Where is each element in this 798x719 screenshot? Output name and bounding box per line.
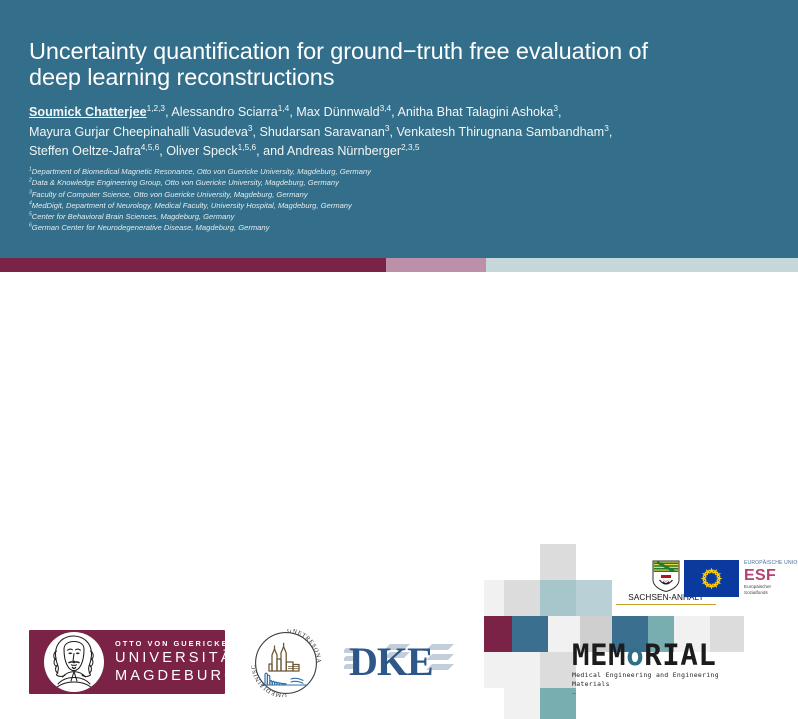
accent-bar-segment-2 bbox=[386, 258, 486, 272]
svg-text:DKE: DKE bbox=[349, 639, 433, 682]
memorial-subtitle: Medical Engineering and Engineering Mate… bbox=[572, 671, 757, 689]
memorial-logo: SACHSEN-ANHALT bbox=[484, 544, 774, 719]
memorial-wordmark: MEMoRIAL Medical Engineering and Enginee… bbox=[572, 640, 757, 698]
logo-band: OTTO VON GUERICKE UNIVERSITÄT MAGDEBURG … bbox=[0, 272, 798, 474]
memorial-word-part2: RIAL bbox=[644, 638, 716, 672]
memorial-word-o: o bbox=[626, 638, 644, 672]
esf-eu-logo: EUROPÄISCHE UNION ESF Europäischer Sozia… bbox=[684, 560, 776, 604]
affiliation-item: 3Faculty of Computer Science, Otto von G… bbox=[29, 189, 774, 200]
affiliation-item: 2Data & Knowledge Engineering Group, Ott… bbox=[29, 177, 774, 188]
ovgu-logo-line2: UNIVERSITÄT bbox=[115, 649, 246, 667]
mosaic-square bbox=[484, 616, 512, 652]
ovgu-logo-text: OTTO VON GUERICKE UNIVERSITÄT MAGDEBURG bbox=[115, 639, 246, 685]
title-header-panel: Uncertainty quantification for ground−tr… bbox=[0, 0, 798, 258]
accent-bar-segment-1 bbox=[0, 258, 386, 272]
memorial-word: MEMoRIAL bbox=[572, 640, 757, 670]
affiliation-item: 1Department of Biomedical Magnetic Reson… bbox=[29, 166, 774, 177]
memorial-word-part1: MEM bbox=[572, 638, 626, 672]
esf-line-sozialfonds: Sozialfonds bbox=[744, 590, 789, 596]
mosaic-square bbox=[484, 580, 504, 616]
author-list: Soumick Chatterjee1,2,3, Alessandro Scia… bbox=[29, 103, 774, 162]
affiliation-item: 6German Center for Neurodegenerative Dis… bbox=[29, 222, 774, 233]
mosaic-square bbox=[576, 580, 612, 616]
mosaic-square bbox=[540, 544, 576, 580]
mosaic-square bbox=[504, 688, 540, 719]
accent-color-bar bbox=[0, 258, 798, 272]
esf-line-europaeische-union: EUROPÄISCHE UNION bbox=[744, 560, 789, 567]
ovgu-logo-line3: MAGDEBURG bbox=[115, 667, 246, 685]
affiliation-list: 1Department of Biomedical Magnetic Reson… bbox=[29, 166, 774, 234]
page-title: Uncertainty quantification for ground−tr… bbox=[29, 38, 759, 90]
otto-von-guericke-universitaet-magdeburg-logo: OTTO VON GUERICKE UNIVERSITÄT MAGDEBURG bbox=[29, 630, 225, 694]
mosaic-square bbox=[504, 580, 540, 616]
mosaic-square bbox=[540, 688, 576, 719]
esf-acronym: ESF bbox=[744, 567, 789, 584]
dke-logo: DKE bbox=[344, 638, 458, 682]
sachsen-anhalt-coat-of-arms-icon bbox=[652, 560, 680, 592]
affiliation-item: 4MedDigit, Department of Neurology, Medi… bbox=[29, 200, 774, 211]
memorial-subtitle-dash: – bbox=[572, 689, 757, 698]
mosaic-square bbox=[504, 652, 540, 688]
biomedizinische-magnetresonanz-logo: BIOMEDIZINISCHE MAGNETRESONANZ bbox=[247, 629, 325, 697]
mosaic-square bbox=[540, 580, 576, 616]
accent-bar-segment-3 bbox=[486, 258, 798, 272]
mosaic-square bbox=[540, 652, 576, 688]
affiliation-item: 5Center for Behavioral Brain Sciences, M… bbox=[29, 211, 774, 222]
otto-von-guericke-portrait-icon bbox=[44, 632, 104, 692]
ovgu-logo-line1: OTTO VON GUERICKE bbox=[115, 639, 246, 649]
mosaic-square bbox=[484, 652, 504, 688]
esf-text-block: EUROPÄISCHE UNION ESF Europäischer Sozia… bbox=[744, 560, 789, 596]
presentation-title-slide: Uncertainty quantification for ground−tr… bbox=[0, 0, 798, 474]
mosaic-square bbox=[512, 616, 548, 652]
european-union-flag-icon bbox=[684, 560, 739, 597]
sachsen-anhalt-rule bbox=[616, 604, 716, 605]
